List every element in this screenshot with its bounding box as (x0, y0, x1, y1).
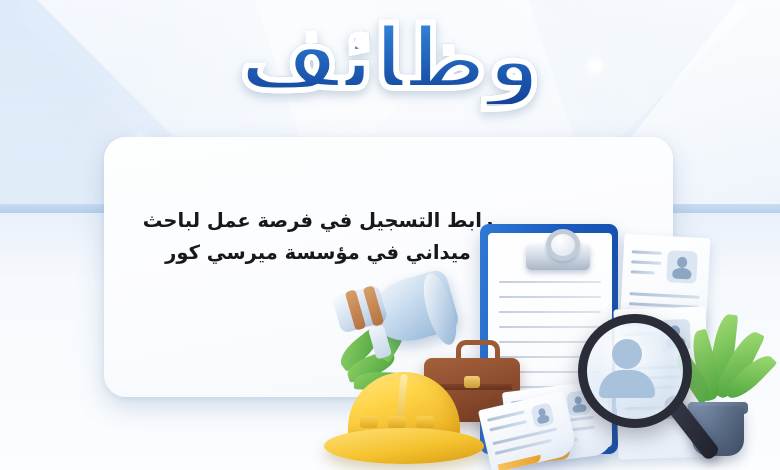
hard-hat-brim (324, 428, 484, 464)
clipboard-line (499, 326, 601, 328)
avatar (666, 250, 698, 284)
person-icon (612, 339, 642, 369)
briefcase-lock (464, 376, 480, 388)
clipboard-line (499, 311, 601, 313)
clipboard-ring (546, 229, 580, 261)
clipboard-line (499, 281, 601, 283)
poster-title-wrap: وظائف (0, 14, 780, 104)
poster-canvas: وظائف رابط التسجيل في فرصة عمل لباحث ميد… (0, 0, 780, 470)
illustration-group (320, 190, 780, 470)
avatar (530, 402, 554, 428)
clipboard-line (499, 296, 601, 298)
page-title: وظائف (239, 14, 540, 104)
